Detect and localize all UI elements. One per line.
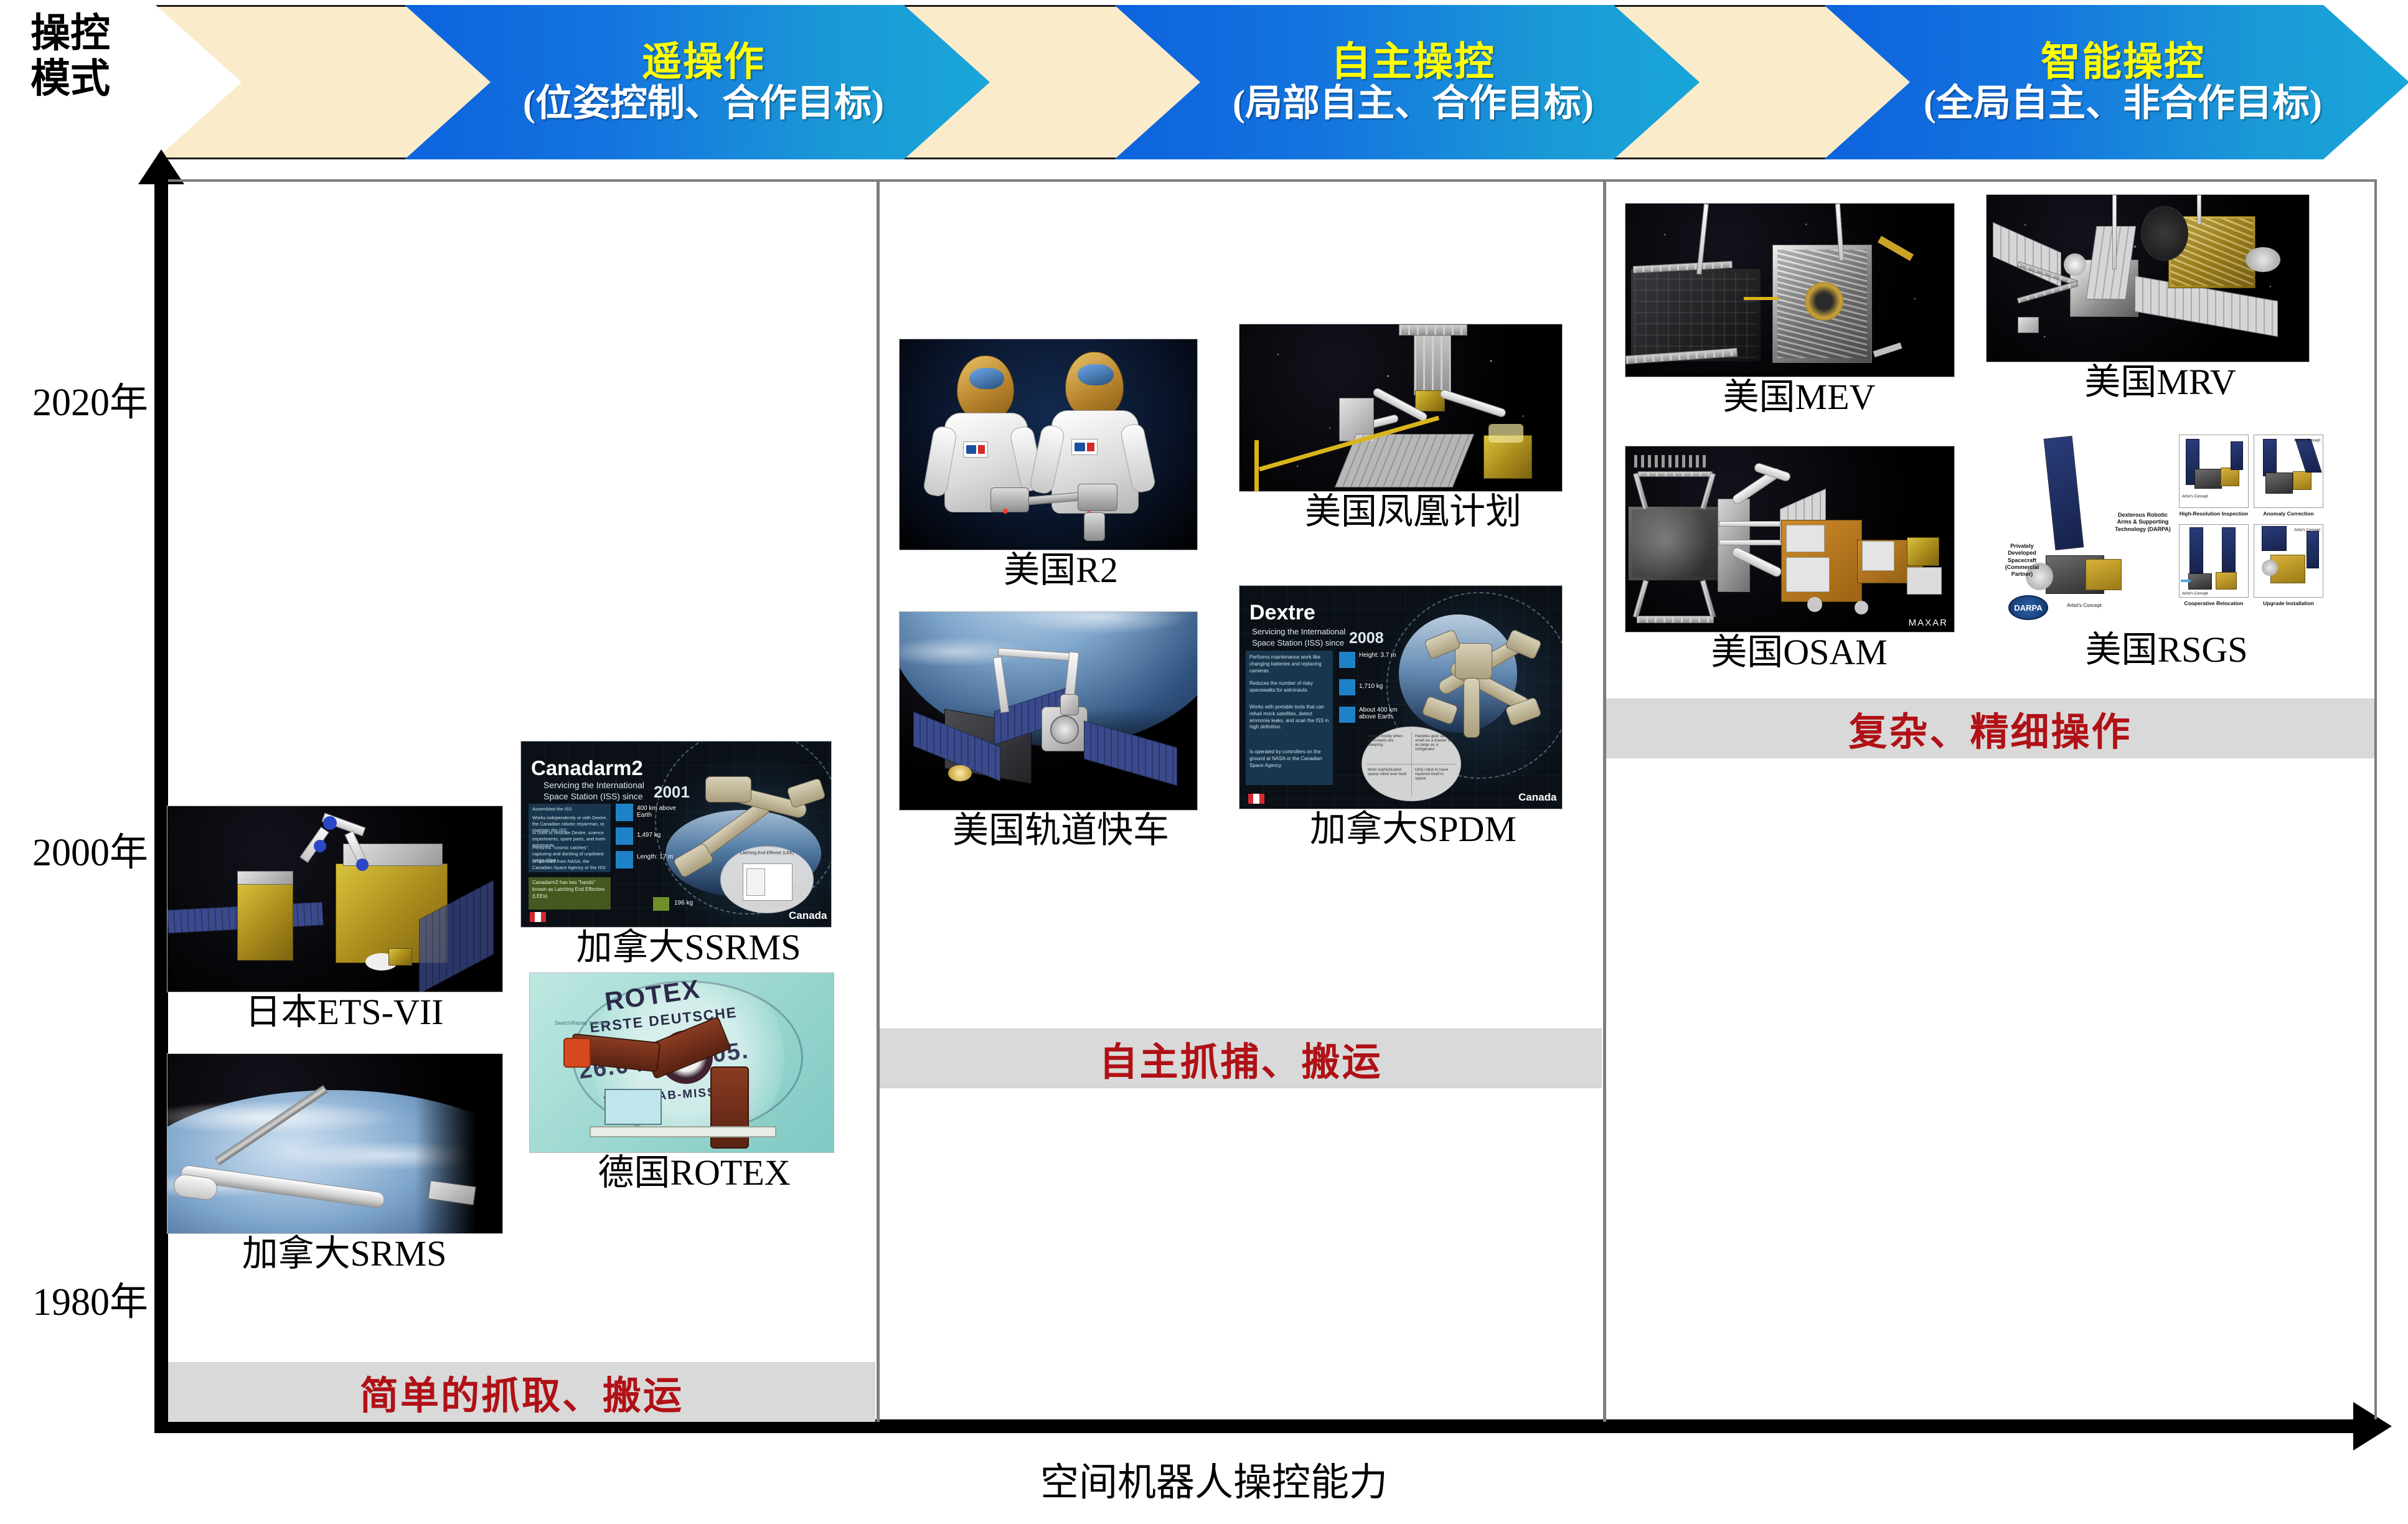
capability-bar-intelligent: 复杂、精细操作 — [1606, 698, 2374, 758]
dextre-stat-3: About 400 km above Earth — [1359, 707, 1411, 720]
banner-stage-2-title: 自主操控 — [1331, 42, 1495, 82]
dextre-subtitle-2: Space Station (ISS) since — [1252, 638, 1344, 647]
rsgs-label: 美国RSGS — [1992, 631, 2341, 669]
dextre-circle-note-1: Works mostly when astronauts are sleepin… — [1364, 729, 1411, 764]
capability-bar-teleoperation: 简单的抓取、搬运 — [168, 1362, 875, 1422]
rsgs-caption-1: High-Resolution Inspection — [2179, 510, 2249, 517]
mev-label: 美国MEV — [1625, 379, 1973, 416]
rotex-label: 德国ROTEX — [529, 1154, 859, 1192]
canadarm2-bullet-1: Assembled the ISS — [532, 806, 608, 812]
item-rotex[interactable]: ROTEX ERSTE DEUTSCHE SPACELAB-MISSION 26… — [529, 972, 859, 1192]
item-mrv[interactable]: 美国MRV — [1986, 194, 2335, 402]
dextre-year: 2008 — [1349, 629, 1384, 647]
rotex-image: ROTEX ERSTE DEUTSCHE SPACELAB-MISSION 26… — [529, 972, 834, 1153]
mrv-label: 美国MRV — [1986, 364, 2335, 402]
canadarm2-green-note: Canadarm2 has two "hands" known as Latch… — [532, 880, 608, 900]
rsgs-caption-2: Anomaly Correction — [2254, 510, 2323, 517]
rsgs-label-partner: Privately Developed Spacecraft (Commerci… — [1996, 543, 2048, 578]
item-phoenix[interactable]: 美国凤凰计划 — [1239, 324, 1587, 531]
rsgs-image: Privately Developed Spacecraft (Commerci… — [1992, 431, 2328, 630]
item-r2[interactable]: 美国R2 — [899, 339, 1223, 590]
r2-label: 美国R2 — [899, 552, 1223, 590]
canadarm2-subtitle-1: Servicing the International — [543, 780, 644, 790]
mode-axis-title: 操控 模式 — [5, 11, 136, 102]
canadarm2-stat-green: 196 kg — [674, 900, 693, 906]
ssrms-label: 加拿大SSRMS — [520, 929, 857, 967]
process-banner: 遥操作 (位姿控制、合作目标) 自主操控 (局部自主、合作目标) 智能操控 (全… — [156, 5, 2408, 159]
column-divider-1 — [877, 182, 880, 1422]
dextre-circle-note-3: Most sophisticated space robot ever buil… — [1364, 764, 1411, 799]
rsgs-cell-3: Artist's Concept — [2179, 524, 2249, 598]
osam-watermark: MAXAR — [1909, 618, 1948, 628]
banner-stage-3-title: 智能操控 — [2041, 42, 2205, 82]
dextre-subtitle-1: Servicing the International — [1252, 627, 1345, 636]
dextre-brand: Canada — [1518, 791, 1556, 804]
mrv-image — [1986, 194, 2310, 362]
mode-axis-title-line1: 操控 — [5, 11, 136, 57]
dextre-circle-note-2: Handles gear as small as a toaster or as… — [1411, 729, 1459, 764]
item-rsgs[interactable]: Privately Developed Spacecraft (Commerci… — [1992, 431, 2341, 669]
canadarm2-stat-2: 1,497 kg — [637, 832, 687, 839]
ets-vii-label: 日本ETS-VII — [167, 994, 522, 1032]
banner-stage-1-title: 遥操作 — [642, 42, 765, 82]
banner-stage-2-subtitle: (局部自主、合作目标) — [1233, 85, 1594, 123]
dextre-bullet-3: Works with portable tools that can refue… — [1249, 704, 1329, 731]
x-axis-label: 空间机器人操控能力 — [872, 1451, 1556, 1507]
phoenix-image — [1239, 324, 1563, 492]
rsgs-caption-3: Cooperative Relocation — [2176, 600, 2251, 606]
banner-stage-2-text: 自主操控 (局部自主、合作目标) — [1133, 5, 1693, 159]
dextre-circle-note-4: Only robot to have repaired itself in sp… — [1411, 764, 1459, 799]
y-tick-2000: 2000年 — [0, 821, 148, 877]
canadarm2-year: 2001 — [654, 783, 690, 802]
dextre-bullet-2: Reduces the number of risky spacewalks f… — [1249, 680, 1329, 694]
canadarm2-title: Canadarm2 — [531, 756, 643, 780]
rsgs-label-artist-concept: Artist's Concept — [2054, 603, 2114, 608]
item-mev[interactable]: 美国MEV — [1625, 203, 1973, 416]
phoenix-label: 美国凤凰计划 — [1239, 493, 1587, 531]
mev-image — [1625, 203, 1955, 377]
canadarm2-bullet-5: Is operated from NASA, the Canadian Spac… — [532, 858, 608, 871]
srms-label: 加拿大SRMS — [167, 1235, 522, 1273]
y-tick-1980: 1980年 — [0, 1270, 148, 1326]
chart-plot-area: 简单的抓取、搬运 自主抓捕、搬运 复杂、精细操作 日本ETS-VII — [168, 179, 2377, 1419]
rsgs-cell-2: Artist's Concept — [2254, 435, 2323, 508]
banner-stage-3-text: 智能操控 (全局自主、非合作目标) — [1843, 5, 2403, 159]
orbital-express-label: 美国轨道快车 — [899, 812, 1223, 850]
r2-image — [899, 339, 1198, 550]
rsgs-darpa-logo: DARPA — [2008, 595, 2048, 620]
item-srms[interactable]: 加拿大SRMS — [167, 1053, 522, 1273]
srms-image — [167, 1053, 503, 1234]
capability-label-teleoperation: 简单的抓取、搬运 — [360, 1364, 684, 1420]
item-orbital-express[interactable]: 美国轨道快车 — [899, 611, 1223, 850]
capability-bar-autonomous: 自主抓捕、搬运 — [880, 1028, 1602, 1088]
rsgs-cell-1: Artist's Concept — [2179, 435, 2249, 508]
canadarm2-stat-1: 400 km above Earth — [637, 805, 687, 819]
capability-label-autonomous: 自主抓捕、搬运 — [1099, 1030, 1382, 1086]
spdm-label: 加拿大SPDM — [1239, 811, 1587, 849]
rsgs-cell-4: Artist's Concept — [2254, 524, 2323, 598]
rsgs-label-darpa-arms: Dexterous Robotic Arms & Supporting Tech… — [2114, 512, 2171, 533]
item-osam[interactable]: MAXAR 美国OSAM — [1625, 446, 1973, 672]
item-spdm[interactable]: Dextre Servicing the International Space… — [1239, 585, 1587, 849]
dextre-stat-1: Height: 3.7 m — [1359, 652, 1411, 659]
osam-label: 美国OSAM — [1625, 634, 1973, 672]
spdm-image: Dextre Servicing the International Space… — [1239, 585, 1563, 809]
capability-label-intelligent: 复杂、精细操作 — [1848, 700, 2132, 756]
dextre-bullet-1: Performs maintenance work like changing … — [1249, 654, 1329, 674]
ets-vii-image — [167, 806, 503, 992]
canadarm2-callout: Latching End Effector (LEE) — [736, 851, 798, 855]
dextre-stat-2: 1,710 kg — [1359, 683, 1411, 690]
canadarm2-brand: Canada — [789, 910, 827, 922]
item-ets-vii[interactable]: 日本ETS-VII — [167, 806, 522, 1032]
dextre-bullet-4: Is operated by controllers on the ground… — [1249, 749, 1329, 769]
y-axis-line — [154, 176, 168, 1433]
banner-stage-3-subtitle: (全局自主、非合作目标) — [1924, 85, 2322, 123]
osam-image: MAXAR — [1625, 446, 1955, 633]
y-tick-2020: 2020年 — [0, 370, 148, 426]
column-divider-2 — [1603, 182, 1606, 1422]
orbital-express-image — [899, 611, 1198, 811]
dextre-title: Dextre — [1249, 601, 1315, 625]
ssrms-image: Canadarm2 Servicing the International Sp… — [520, 741, 832, 928]
item-ssrms[interactable]: Canadarm2 Servicing the International Sp… — [520, 741, 857, 967]
rsgs-caption-4: Upgrade Installation — [2252, 600, 2325, 606]
canadarm2-stat-3: Length: 17 m — [637, 854, 687, 860]
canadarm2-subtitle-2: Space Station (ISS) since — [543, 791, 643, 801]
banner-stage-1-subtitle: (位姿控制、合作目标) — [523, 85, 884, 123]
banner-stage-1-text: 遥操作 (位姿控制、合作目标) — [423, 5, 984, 159]
mode-axis-title-line2: 模式 — [5, 57, 136, 102]
